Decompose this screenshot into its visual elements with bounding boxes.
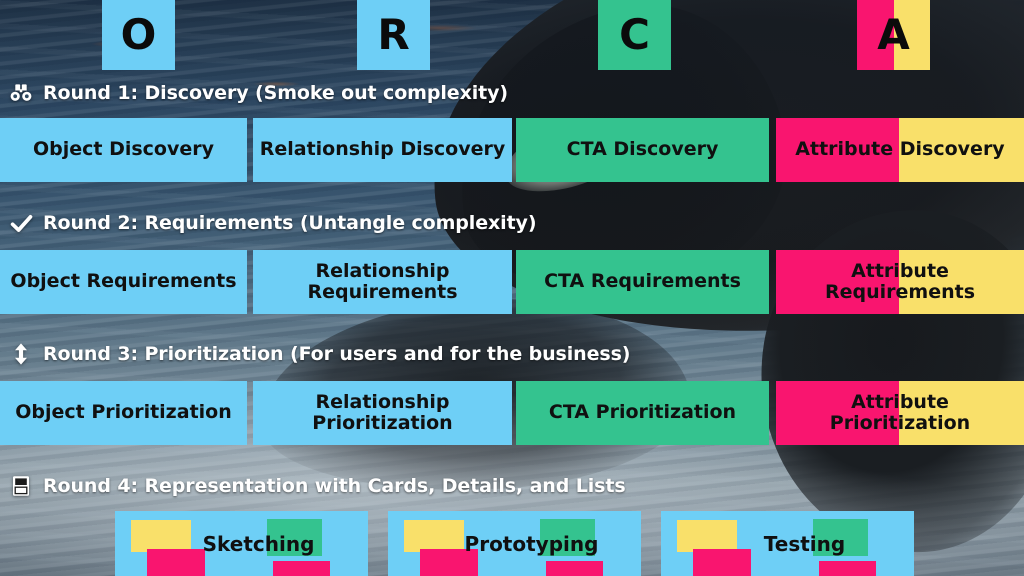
stage-label: Attribute Requirements [782, 261, 1018, 304]
stage-cta-discovery: CTA Discovery [516, 118, 769, 182]
acronym-tile-o: O [102, 0, 175, 70]
up-down-arrow-icon [8, 341, 34, 367]
stage-label: CTA Requirements [544, 271, 741, 292]
round-1-heading: Round 1: Discovery (Smoke out complexity… [8, 80, 508, 106]
representation-card-testing: Testing [661, 511, 914, 576]
stage-label: Object Prioritization [15, 402, 232, 423]
round-2-heading: Round 2: Requirements (Untangle complexi… [8, 210, 536, 236]
sketch-right-chip-pink [273, 561, 330, 576]
stage-relationship-prioritization: Relationship Prioritization [253, 381, 512, 445]
stage-label: Object Requirements [10, 271, 236, 292]
testing-right-chip-pink [819, 561, 876, 576]
round-4-heading: Round 4: Representation with Cards, Deta… [8, 473, 626, 499]
checkmark-icon [8, 210, 34, 236]
sketch-left-chip-yellow [131, 520, 191, 552]
acronym-tile-c: C [598, 0, 671, 70]
acronym-letter-c: C [619, 14, 650, 56]
stage-attribute-discovery: Attribute Discovery [776, 118, 1024, 182]
round-3-heading: Round 3: Prioritization (For users and f… [8, 341, 630, 367]
stage-object-discovery: Object Discovery [0, 118, 247, 182]
round-3-heading-text: Round 3: Prioritization (For users and f… [43, 343, 630, 365]
stage-relationship-requirements: Relationship Requirements [253, 250, 512, 314]
stage-attribute-requirements: Attribute Requirements [776, 250, 1024, 314]
acronym-letter-r: R [377, 14, 409, 56]
stage-object-prioritization: Object Prioritization [0, 381, 247, 445]
round-1-heading-text: Round 1: Discovery (Smoke out complexity… [43, 82, 508, 104]
stage-relationship-discovery: Relationship Discovery [253, 118, 512, 182]
stage-label: Object Discovery [33, 139, 214, 160]
stage-cta-prioritization: CTA Prioritization [516, 381, 769, 445]
representation-card-prototyping: Prototyping [388, 511, 641, 576]
card-label: Testing [764, 532, 845, 556]
stage-object-requirements: Object Requirements [0, 250, 247, 314]
stage-label: Relationship Prioritization [259, 392, 506, 435]
acronym-letter-a: A [877, 14, 910, 56]
stage-attribute-prioritization: Attribute Prioritization [776, 381, 1024, 445]
card-label: Prototyping [465, 532, 599, 556]
prototype-left-chip-yellow [404, 520, 464, 552]
orca-framework-slide: O R C A [0, 0, 1024, 576]
card-layout-icon [8, 473, 34, 499]
acronym-letter-o: O [121, 14, 157, 56]
stage-label: CTA Discovery [567, 139, 719, 160]
representation-card-sketching: Sketching [115, 511, 368, 576]
testing-left-chip-pink [693, 549, 751, 576]
stage-label: CTA Prioritization [549, 402, 736, 423]
stage-cta-requirements: CTA Requirements [516, 250, 769, 314]
round-4-heading-text: Round 4: Representation with Cards, Deta… [43, 475, 626, 497]
prototype-right-chip-pink [546, 561, 603, 576]
testing-left-chip-yellow [677, 520, 737, 552]
stage-label: Attribute Discovery [795, 139, 1004, 160]
binoculars-icon [8, 80, 34, 106]
acronym-tile-r: R [357, 0, 430, 70]
acronym-tile-a: A [857, 0, 930, 70]
card-label: Sketching [203, 532, 315, 556]
round-2-heading-text: Round 2: Requirements (Untangle complexi… [43, 212, 536, 234]
stage-label: Attribute Prioritization [782, 392, 1018, 435]
sketch-left-chip-pink [147, 549, 205, 576]
stage-label: Relationship Requirements [259, 261, 506, 304]
stage-label: Relationship Discovery [260, 139, 506, 160]
